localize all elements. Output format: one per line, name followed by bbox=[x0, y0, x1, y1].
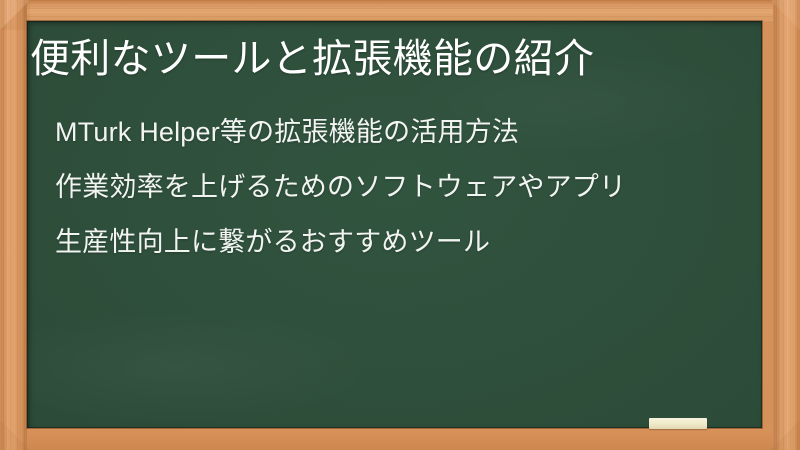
frame-rail-right bbox=[773, 0, 800, 450]
frame-mitre-top-right bbox=[770, 0, 800, 30]
slide-bullet-list: MTurk Helper等の拡張機能の活用方法 作業効率を上げるためのソフトウェ… bbox=[55, 119, 731, 256]
frame-rail-top bbox=[0, 0, 800, 21]
frame-mitre-top-left bbox=[0, 0, 30, 30]
slide-bullet-item: MTurk Helper等の拡張機能の活用方法 bbox=[55, 119, 731, 146]
chalkboard-surface: 便利なツールと拡張機能の紹介 MTurk Helper等の拡張機能の活用方法 作… bbox=[27, 21, 762, 428]
frame-mitre-bottom-right bbox=[770, 420, 800, 450]
slide-title: 便利なツールと拡張機能の紹介 bbox=[30, 39, 594, 79]
frame-rail-left bbox=[0, 0, 27, 450]
slide-bullet-item: 作業効率を上げるためのソフトウェアやアプリ bbox=[55, 174, 731, 201]
frame-mitre-bottom-left bbox=[0, 420, 30, 450]
chalkboard-slide: 便利なツールと拡張機能の紹介 MTurk Helper等の拡張機能の活用方法 作… bbox=[0, 0, 800, 450]
chalk-stick-icon bbox=[649, 418, 707, 429]
chalkboard-content: 便利なツールと拡張機能の紹介 MTurk Helper等の拡張機能の活用方法 作… bbox=[27, 21, 762, 428]
slide-bullet-item: 生産性向上に繋がるおすすめツール bbox=[55, 229, 731, 256]
frame-ledge-bottom bbox=[0, 428, 800, 450]
